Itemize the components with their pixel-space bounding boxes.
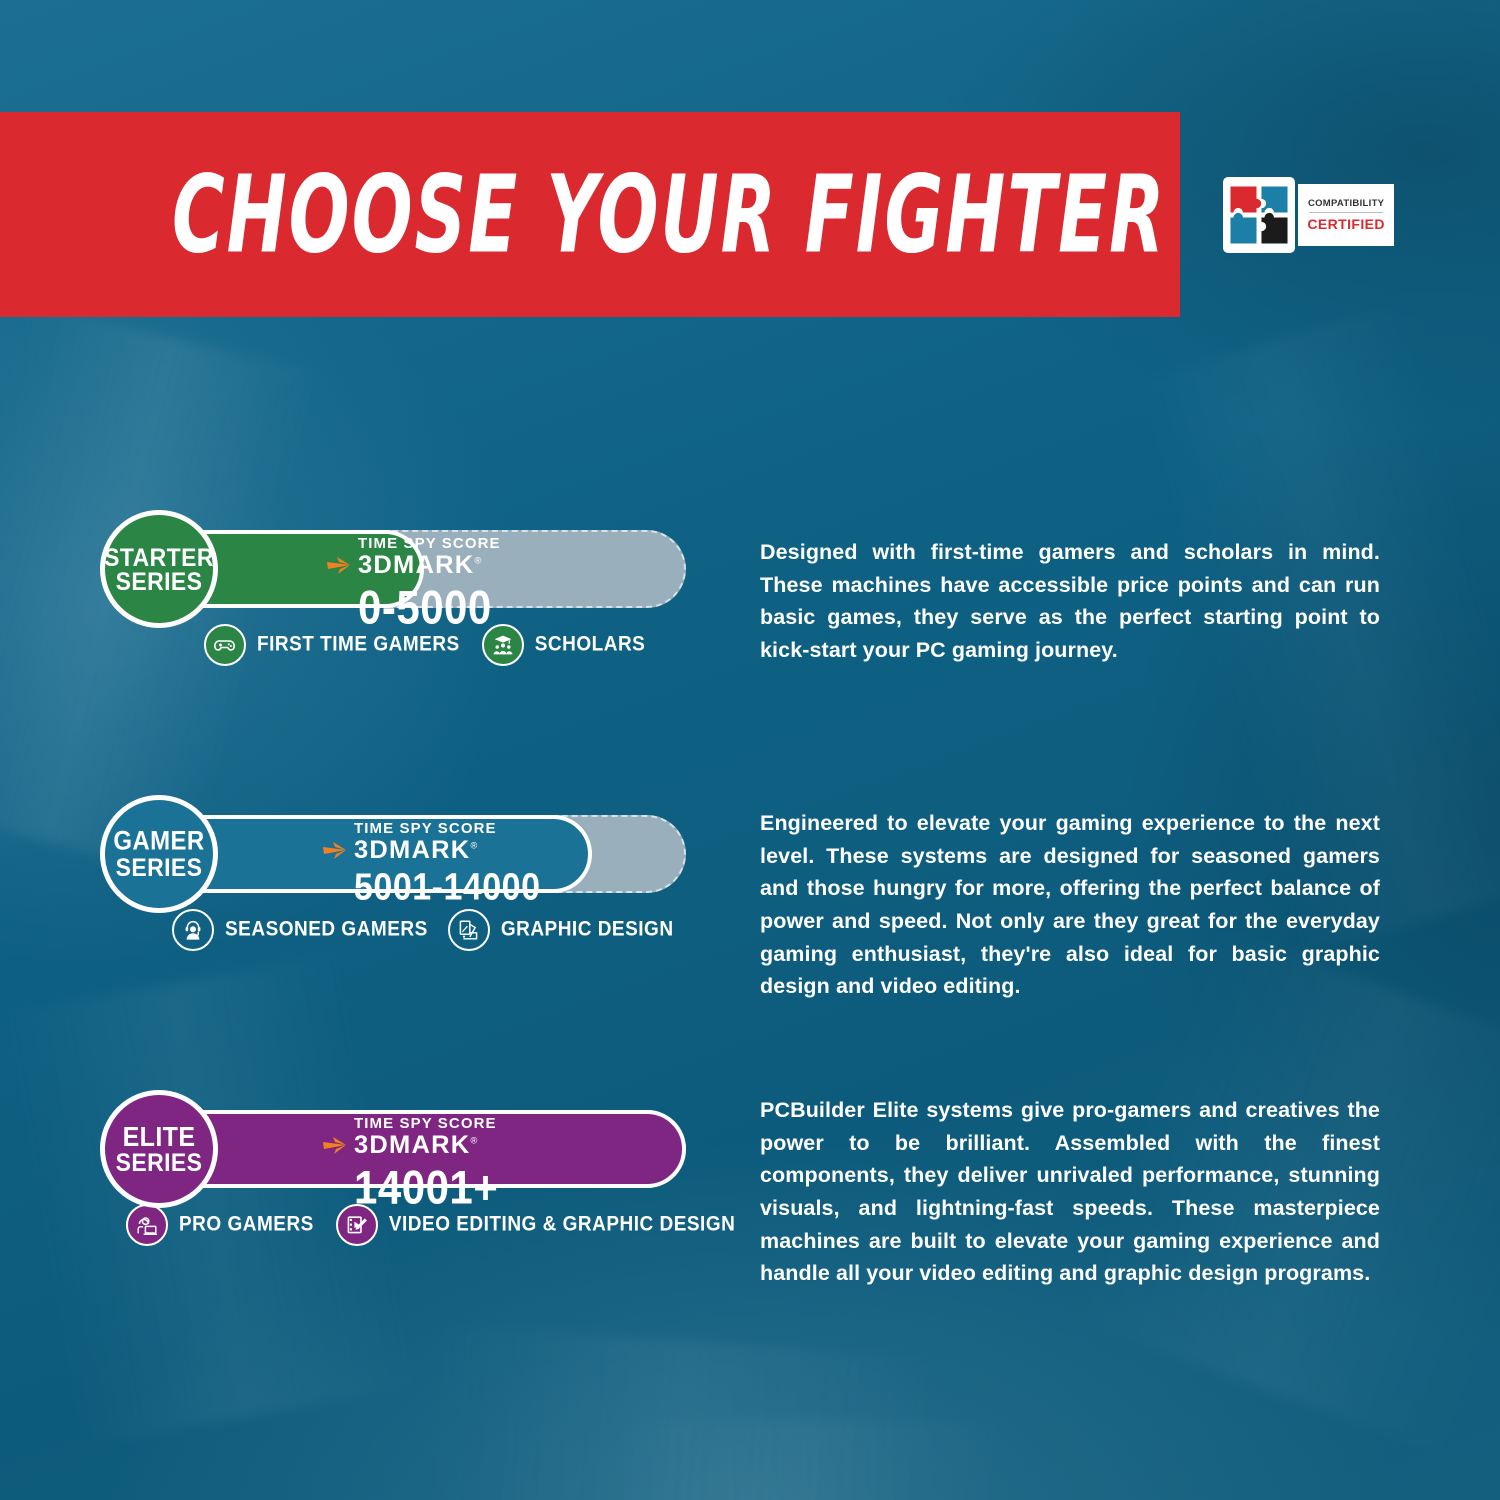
tier-row-gamer: TIME SPY SCORE 3DMARK® 5001-14000 GAMER … (0, 785, 1500, 1003)
audience-chip: SEASONED GAMERS (172, 909, 428, 951)
background-texture-streak (600, 1420, 1020, 1500)
3dmark-swoosh-icon (322, 1136, 348, 1156)
badge-text-block: COMPATIBILITY CERTIFIED (1298, 184, 1394, 246)
pro-gamer-desktop-icon (126, 1204, 168, 1246)
tier-visual-starter: TIME SPY SCORE 3DMARK® 0-5000 STARTER SE… (0, 500, 760, 667)
tier-description-gamer: Engineered to elevate your gaming experi… (760, 785, 1400, 1003)
audience-chip: SCHOLARS (482, 624, 646, 666)
tier-knob-line1: GAMER (113, 828, 204, 856)
gamepad-icon (204, 624, 246, 666)
3dmark-wordmark: 3DMARK® (354, 1132, 501, 1160)
badge-divider (1309, 212, 1383, 213)
tier-description-text: Designed with first-time gamers and scho… (760, 536, 1380, 667)
tier-row-elite: TIME SPY SCORE 3DMARK® 14001+ ELITE SERI… (0, 1080, 1500, 1290)
audience-label: PRO GAMERS (179, 1213, 314, 1238)
header-banner: CHOOSE YOUR FIGHTER COMPATIBI (0, 112, 1180, 317)
badge-compatibility-label: COMPATIBILITY (1308, 198, 1384, 209)
tier-description-text: Engineered to elevate your gaming experi… (760, 807, 1380, 1003)
audience-label: VIDEO EDITING & GRAPHIC DESIGN (389, 1213, 735, 1238)
tier-knob-gamer[interactable]: GAMER SERIES (100, 795, 218, 913)
3dmark-wordmark: 3DMARK® (358, 552, 504, 580)
score-value: 14001+ (354, 1161, 498, 1214)
audience-label: SCHOLARS (535, 633, 646, 658)
compatibility-certified-badge: COMPATIBILITY CERTIFIED (1223, 177, 1394, 253)
3dmark-swoosh-icon (322, 841, 348, 861)
badge-certified-label: CERTIFIED (1307, 216, 1385, 232)
page-title: CHOOSE YOUR FIGHTER (172, 161, 1166, 268)
tier-visual-gamer: TIME SPY SCORE 3DMARK® 5001-14000 GAMER … (0, 785, 760, 1003)
score-value: 5001-14000 (354, 866, 541, 909)
tier-row-starter: TIME SPY SCORE 3DMARK® 0-5000 STARTER SE… (0, 500, 1500, 667)
tier-knob-line2: SERIES (116, 568, 203, 595)
audience-label: SEASONED GAMERS (225, 918, 428, 943)
tier-knob-line2: SERIES (116, 853, 203, 880)
score-bar-gamer: TIME SPY SCORE 3DMARK® 5001-14000 GAMER … (100, 785, 686, 893)
audience-label: GRAPHIC DESIGN (501, 918, 674, 943)
puzzle-compatibility-icon (1223, 177, 1295, 253)
score-bar-starter: TIME SPY SCORE 3DMARK® 0-5000 STARTER SE… (100, 500, 686, 608)
score-readout: TIME SPY SCORE 3DMARK® 14001+ (322, 1116, 498, 1208)
audience-row-gamer: SEASONED GAMERS GRAPHIC DESIGN (100, 909, 760, 951)
tier-knob-line2: SERIES (116, 1149, 203, 1176)
tier-description-elite: PCBuilder Elite systems give pro-gamers … (760, 1080, 1400, 1290)
score-readout: TIME SPY SCORE 3DMARK® 5001-14000 (322, 821, 541, 904)
audience-chip: GRAPHIC DESIGN (448, 909, 674, 951)
score-label: TIME SPY SCORE (354, 1116, 498, 1132)
score-value: 0-5000 (358, 581, 501, 634)
tier-knob-starter[interactable]: STARTER SERIES (100, 510, 218, 628)
3dmark-swoosh-icon (326, 556, 352, 576)
color-swatch-palette-icon (448, 909, 490, 951)
score-label: TIME SPY SCORE (358, 536, 501, 552)
score-label: TIME SPY SCORE (354, 821, 541, 837)
background-texture-streak (414, 1322, 947, 1500)
audience-chip: PRO GAMERS (126, 1204, 314, 1246)
headset-gamer-icon (172, 909, 214, 951)
tier-description-text: PCBuilder Elite systems give pro-gamers … (760, 1094, 1380, 1290)
score-bar-elite: TIME SPY SCORE 3DMARK® 14001+ ELITE SERI… (100, 1080, 686, 1188)
audience-label: FIRST TIME GAMERS (257, 633, 460, 658)
tier-description-starter: Designed with first-time gamers and scho… (760, 500, 1400, 667)
infographic-page: CHOOSE YOUR FIGHTER COMPATIBI (0, 0, 1500, 1500)
3dmark-wordmark: 3DMARK® (354, 837, 544, 865)
tier-visual-elite: TIME SPY SCORE 3DMARK® 14001+ ELITE SERI… (0, 1080, 760, 1290)
score-readout: TIME SPY SCORE 3DMARK® 0-5000 (326, 536, 501, 628)
tier-knob-elite[interactable]: ELITE SERIES (100, 1090, 218, 1208)
